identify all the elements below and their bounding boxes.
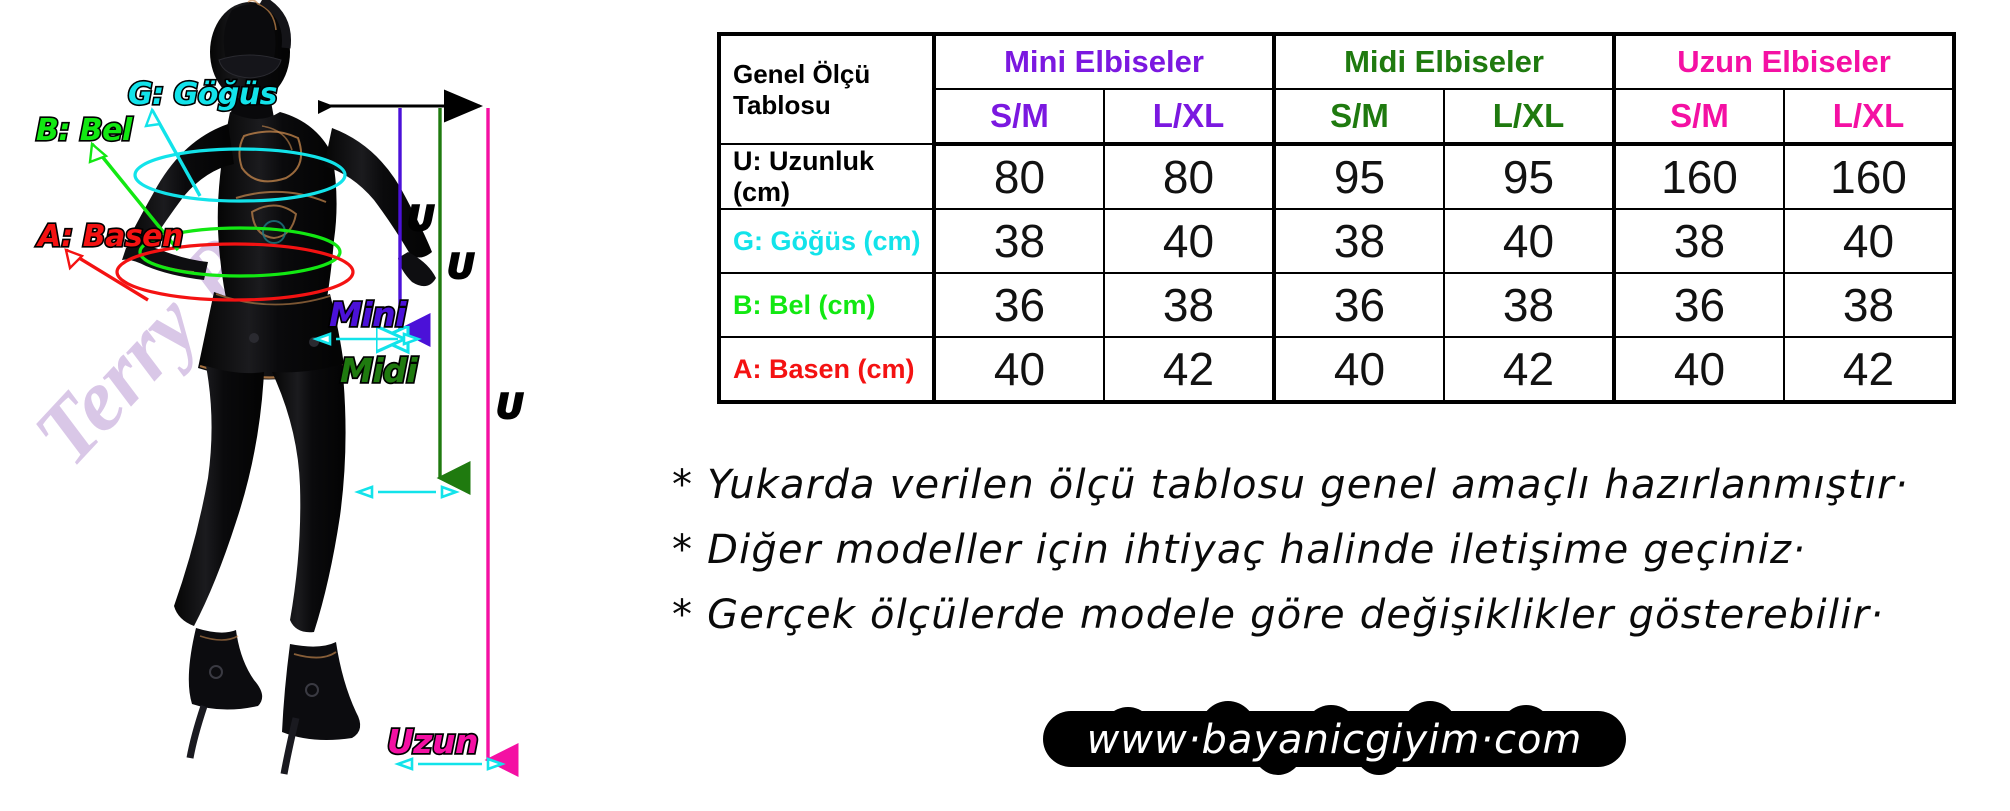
- group-header-uzun: Uzun Elbiseler: [1614, 34, 1954, 89]
- cell-bel-uzun-lxl: 38: [1784, 273, 1954, 337]
- cell-basen-midi-lxl: 42: [1444, 337, 1614, 402]
- cell-basen-uzun-sm: 40: [1614, 337, 1784, 402]
- group-header-mini: Mini Elbiseler: [934, 34, 1274, 89]
- cell-bel-mini-sm: 36: [934, 273, 1104, 337]
- row-label-basen: A: Basen (cm): [719, 337, 934, 402]
- table-header-groups: Genel Ölçü Tablosu Mini Elbiseler Midi E…: [719, 34, 1954, 89]
- size-header-mini-sm: S/M: [934, 89, 1104, 144]
- row-label-uzunluk: U: Uzunluk (cm): [719, 144, 934, 209]
- cell-uzunluk-midi-lxl: 95: [1444, 144, 1614, 209]
- cell-gogus-mini-sm: 38: [934, 209, 1104, 273]
- website-banner[interactable]: www·bayanicgiyim·com: [1017, 699, 1652, 781]
- corner-label: Genel Ölçü Tablosu: [719, 34, 934, 144]
- cell-bel-mini-lxl: 38: [1104, 273, 1274, 337]
- cell-uzunluk-uzun-lxl: 160: [1784, 144, 1954, 209]
- cell-gogus-mini-lxl: 40: [1104, 209, 1274, 273]
- label-gogus: G: Göğüs: [128, 77, 277, 112]
- label-bel: B: Bel: [36, 113, 133, 148]
- size-chart-table: Genel Ölçü Tablosu Mini Elbiseler Midi E…: [717, 32, 1956, 404]
- cell-gogus-uzun-sm: 38: [1614, 209, 1784, 273]
- table-row-uzunluk: U: Uzunluk (cm) 80 80 95 95 160 160: [719, 144, 1954, 209]
- cell-basen-midi-sm: 40: [1274, 337, 1444, 402]
- label-basen: A: Basen: [36, 219, 183, 254]
- label-midi: Midi: [340, 351, 418, 390]
- length-labels: Mini Midi Uzun: [329, 295, 478, 761]
- illustration-panel: Terry Pau: [0, 0, 660, 811]
- cell-uzunluk-uzun-sm: 160: [1614, 144, 1784, 209]
- footnote-1: * Yukarda verilen ölçü tablosu genel ama…: [672, 462, 2010, 508]
- cell-bel-midi-sm: 36: [1274, 273, 1444, 337]
- label-uzun: Uzun: [387, 722, 478, 761]
- cell-uzunluk-midi-sm: 95: [1274, 144, 1444, 209]
- right-panel: Genel Ölçü Tablosu Mini Elbiseler Midi E…: [660, 0, 2010, 811]
- size-header-uzun-lxl: L/XL: [1784, 89, 1954, 144]
- row-label-gogus: G: Göğüs (cm): [719, 209, 934, 273]
- label-mini: Mini: [329, 295, 407, 334]
- cell-uzunluk-mini-sm: 80: [934, 144, 1104, 209]
- size-header-midi-sm: S/M: [1274, 89, 1444, 144]
- u-mark-mini: U: [407, 199, 434, 239]
- table-row-gogus: G: Göğüs (cm) 38 40 38 40 38 40: [719, 209, 1954, 273]
- cell-basen-mini-lxl: 42: [1104, 337, 1274, 402]
- cell-gogus-midi-sm: 38: [1274, 209, 1444, 273]
- group-header-midi: Midi Elbiseler: [1274, 34, 1614, 89]
- cell-gogus-uzun-lxl: 40: [1784, 209, 1954, 273]
- footnote-2: * Diğer modeller için ihtiyaç halinde il…: [672, 527, 2010, 573]
- row-label-bel: B: Bel (cm): [719, 273, 934, 337]
- cell-gogus-midi-lxl: 40: [1444, 209, 1614, 273]
- size-header-midi-lxl: L/XL: [1444, 89, 1614, 144]
- website-url[interactable]: www·bayanicgiyim·com: [1017, 699, 1652, 781]
- u-mark-midi: U: [447, 247, 474, 287]
- cell-basen-mini-sm: 40: [934, 337, 1104, 402]
- cell-bel-midi-lxl: 38: [1444, 273, 1614, 337]
- table-row-bel: B: Bel (cm) 36 38 36 38 36 38: [719, 273, 1954, 337]
- size-header-mini-lxl: L/XL: [1104, 89, 1274, 144]
- table-row-basen: A: Basen (cm) 40 42 40 42 40 42: [719, 337, 1954, 402]
- size-header-uzun-sm: S/M: [1614, 89, 1784, 144]
- u-marks: U U U: [407, 199, 523, 427]
- cell-basen-uzun-lxl: 42: [1784, 337, 1954, 402]
- u-mark-uzun: U: [496, 387, 523, 427]
- footnotes: * Yukarda verilen ölçü tablosu genel ama…: [672, 462, 2010, 657]
- cell-uzunluk-mini-lxl: 80: [1104, 144, 1274, 209]
- cell-bel-uzun-sm: 36: [1614, 273, 1784, 337]
- footnote-3: * Gerçek ölçülerde modele göre değişikli…: [672, 592, 2010, 638]
